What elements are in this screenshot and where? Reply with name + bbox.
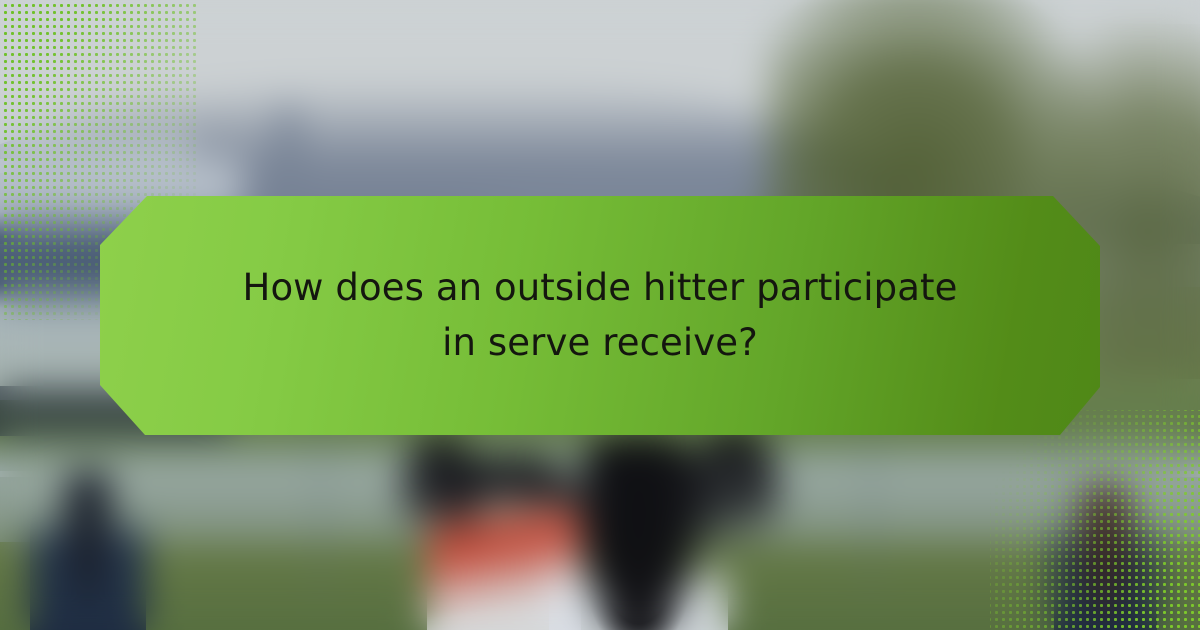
- share-card: How does an outside hitter participate i…: [0, 0, 1200, 630]
- question-banner: How does an outside hitter participate i…: [100, 196, 1100, 435]
- question-title: How does an outside hitter participate i…: [140, 261, 1060, 371]
